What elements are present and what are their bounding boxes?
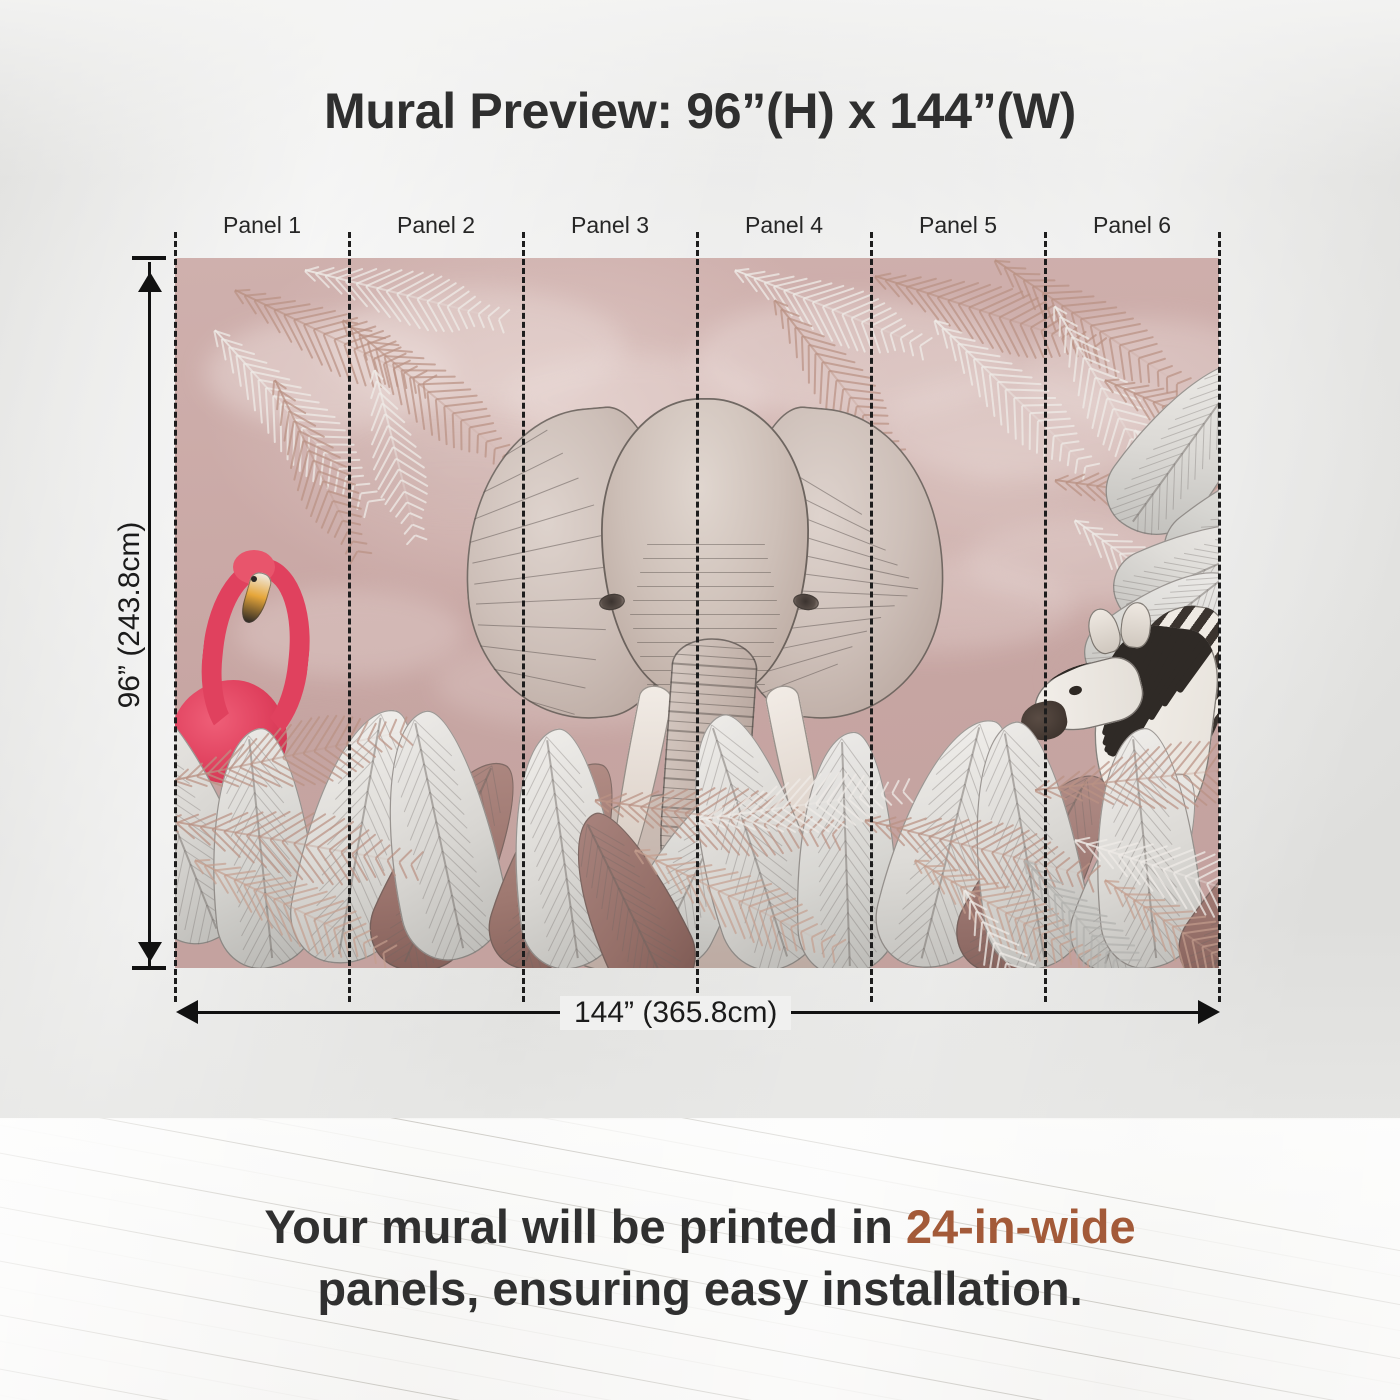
height-arrow-top-cap (132, 256, 166, 260)
mural-artwork (175, 258, 1219, 968)
ear-fold (472, 533, 609, 564)
caption-accent-text: 24-in-wide (906, 1200, 1136, 1253)
height-arrow-shaft (148, 262, 151, 966)
trunk-ring (667, 653, 759, 661)
width-arrow-left-head (176, 999, 198, 1025)
ear-fold (470, 504, 594, 543)
caption-line-2: panels, ensuring easy installation. (0, 1258, 1400, 1320)
page-title: Mural Preview: 96”(H) x 144”(W) (0, 82, 1400, 140)
head-crease (633, 628, 777, 629)
ear-fold (483, 687, 574, 715)
head-crease (640, 572, 771, 573)
ear-fold (474, 564, 622, 585)
trunk-ring (666, 672, 760, 680)
width-arrow-right-head (1198, 999, 1220, 1025)
ear-fold (476, 598, 614, 606)
ear-fold (485, 708, 564, 729)
head-crease (647, 544, 766, 545)
trunk-ring (665, 681, 759, 689)
trunk-ring (666, 662, 759, 670)
panel-label-6: Panel 6 (1045, 212, 1219, 239)
panel-label-row: Panel 1Panel 2Panel 3Panel 4Panel 5Panel… (175, 212, 1219, 246)
head-crease (637, 586, 774, 587)
flamingo-eye (251, 576, 257, 582)
ear-fold (480, 646, 596, 661)
panel-label-3: Panel 3 (523, 212, 697, 239)
panel-label-5: Panel 5 (871, 212, 1045, 239)
head-crease (643, 558, 768, 559)
panel-label-1: Panel 1 (175, 212, 349, 239)
trunk-ring (664, 700, 760, 708)
trunk-ring (663, 710, 759, 718)
footer-caption: Your mural will be printed in 24-in-wide… (0, 1196, 1400, 1320)
trunk-ring (664, 691, 759, 699)
ear-fold (465, 430, 548, 481)
floor-plank-line (0, 1384, 1400, 1400)
height-arrow-bottom-cap (132, 966, 166, 970)
height-dimension-label: 96” (243.8cm) (113, 465, 147, 765)
caption-line-1: Your mural will be printed in 24-in-wide (0, 1196, 1400, 1258)
ear-fold (467, 453, 563, 502)
ear-fold (481, 666, 585, 689)
mural-preview-page: Mural Preview: 96”(H) x 144”(W) Panel 1P… (0, 0, 1400, 1400)
head-crease (630, 614, 780, 615)
height-arrow-up-head (137, 272, 163, 292)
caption-text-before: Your mural will be printed in (264, 1200, 906, 1253)
height-arrow-down-head (137, 942, 163, 962)
ear-fold (478, 625, 606, 631)
panel-label-4: Panel 4 (697, 212, 871, 239)
head-crease (633, 600, 777, 601)
panel-label-2: Panel 2 (349, 212, 523, 239)
width-dimension-label: 144” (365.8cm) (560, 996, 791, 1030)
